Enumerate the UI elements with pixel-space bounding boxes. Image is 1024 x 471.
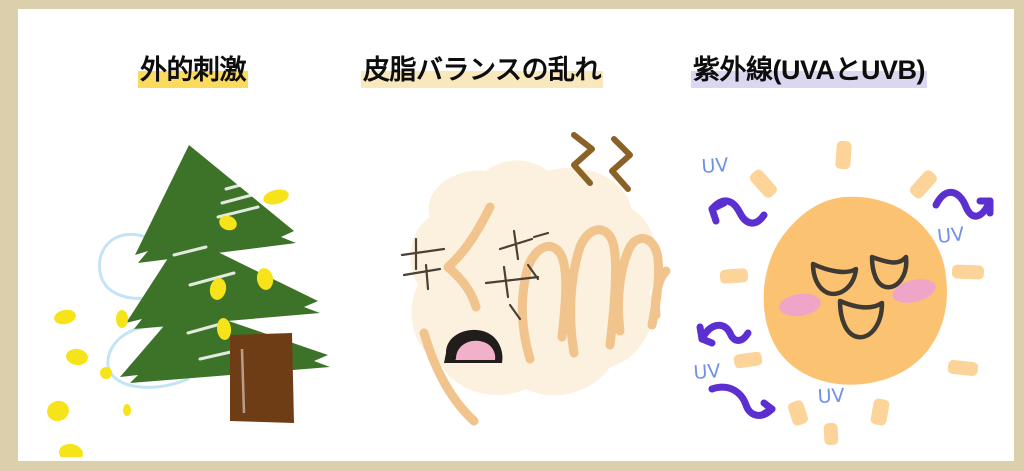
heading-sebum-imbalance: 皮脂バランスの乱れ <box>361 55 603 88</box>
heading-external-stimuli: 外的刺激 <box>138 55 248 88</box>
uv-label-top-right: UV <box>936 223 965 248</box>
tree-trunk <box>230 333 294 423</box>
uv-label-top-left: UV <box>701 154 729 178</box>
uv-label-bottom-right: UV <box>817 385 845 408</box>
illustration-angry-sun-uv: UV UV UV UV <box>668 127 1014 457</box>
illustration-oily-skin <box>378 127 678 457</box>
page-frame: 外的刺激 皮脂バランスの乱れ 紫外線(UVAとUVB) <box>0 0 1024 471</box>
heading-external-stimuli-label: 外的刺激 <box>140 55 246 85</box>
uv-label-bottom-left: UV <box>693 360 721 384</box>
white-canvas: 外的刺激 皮脂バランスの乱れ 紫外線(UVAとUVB) <box>18 9 1014 461</box>
heading-ultraviolet-rays-label: 紫外線(UVAとUVB) <box>693 55 925 85</box>
headings-row: 外的刺激 皮脂バランスの乱れ 紫外線(UVAとUVB) <box>18 55 1014 105</box>
tree-foliage <box>120 145 330 383</box>
illustration-pine-tree-pollen <box>38 127 368 457</box>
heading-ultraviolet-rays: 紫外線(UVAとUVB) <box>691 55 927 88</box>
heading-sebum-imbalance-label: 皮脂バランスの乱れ <box>363 55 601 85</box>
